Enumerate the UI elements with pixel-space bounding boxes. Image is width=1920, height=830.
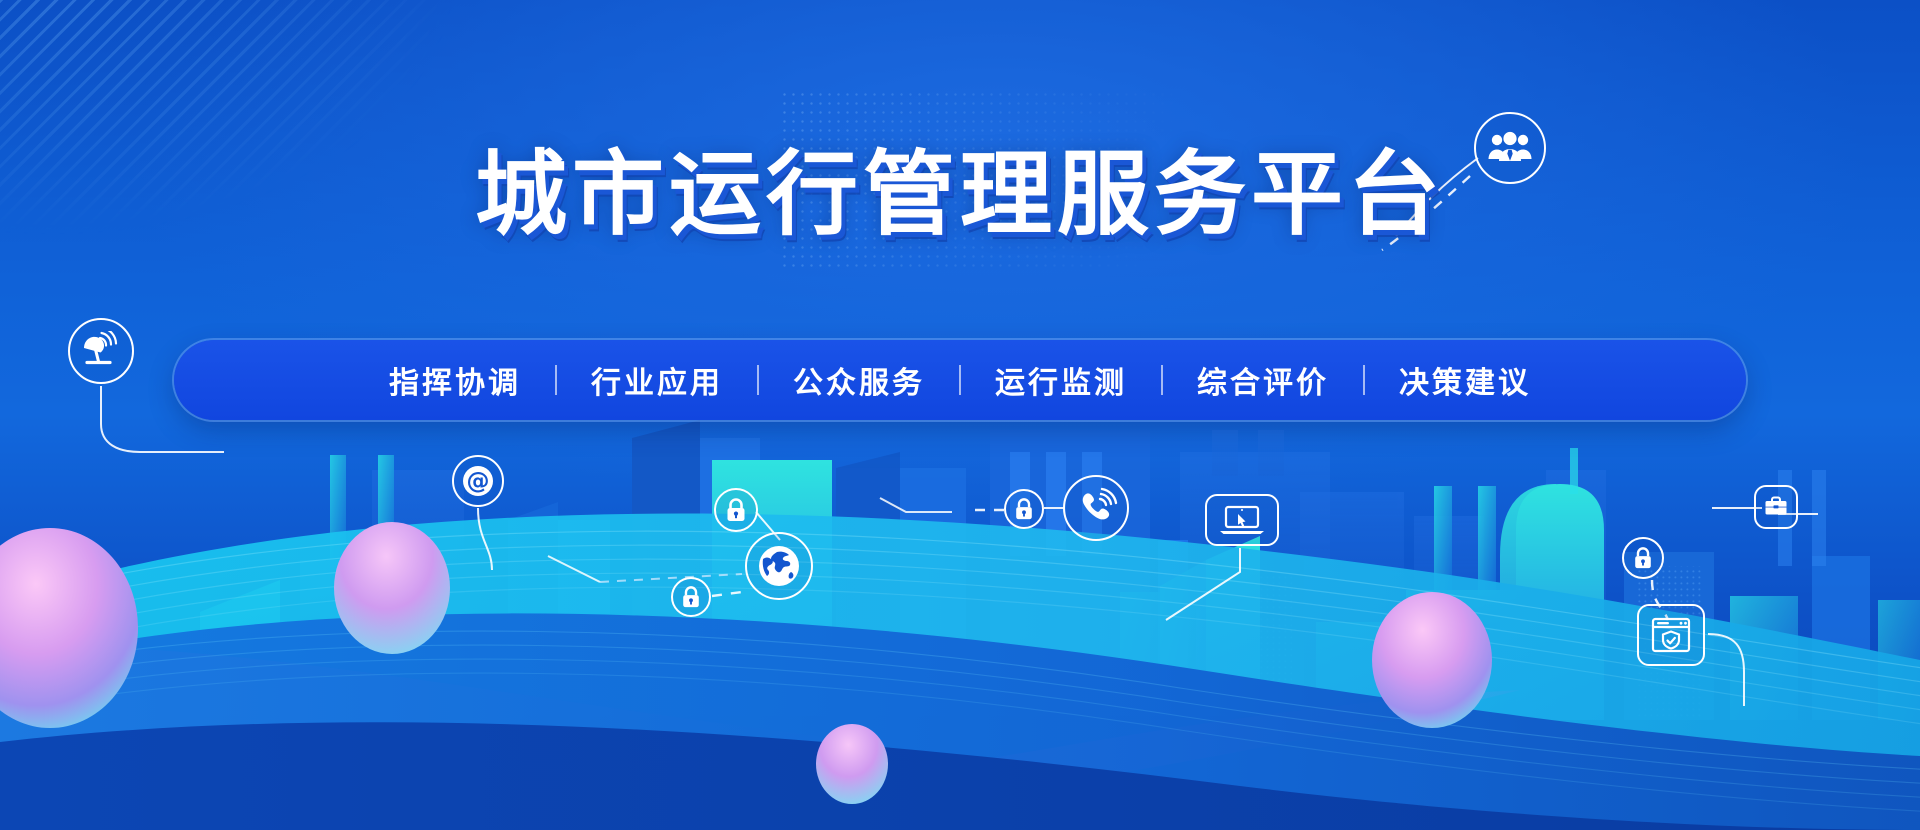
at-sign-icon: @ [452, 455, 504, 507]
lock-icon [1004, 489, 1044, 529]
banner-hero: 城市运行管理服务平台 指挥协调 行业应用 公众服务 运行监测 综合评价 决策建议 [0, 0, 1920, 830]
page-title: 城市运行管理服务平台 [475, 146, 1445, 244]
lock-icon [714, 488, 758, 532]
nav-item-1[interactable]: 行业应用 [557, 358, 757, 402]
laptop-cursor-icon [1205, 494, 1279, 546]
main-nav-bar[interactable]: 指挥协调 行业应用 公众服务 运行监测 综合评价 决策建议 [174, 340, 1746, 420]
lock-icon [671, 577, 711, 617]
nav-item-4[interactable]: 综合评价 [1163, 358, 1363, 402]
nav-item-2[interactable]: 公众服务 [759, 358, 959, 402]
nav-item-3[interactable]: 运行监测 [961, 358, 1161, 402]
page-title-wrap: 城市运行管理服务平台 [0, 146, 1920, 244]
nav-item-0[interactable]: 指挥协调 [355, 358, 555, 402]
nav-item-5[interactable]: 决策建议 [1365, 358, 1565, 402]
people-group-icon [1474, 112, 1546, 184]
lock-icon [1622, 537, 1664, 579]
phone-call-icon [1063, 475, 1129, 541]
globe-icon [745, 532, 813, 600]
svg-text:@: @ [467, 469, 490, 495]
satellite-dish-icon [68, 318, 134, 384]
browser-shield-icon [1637, 604, 1705, 666]
briefcase-icon [1754, 485, 1798, 529]
